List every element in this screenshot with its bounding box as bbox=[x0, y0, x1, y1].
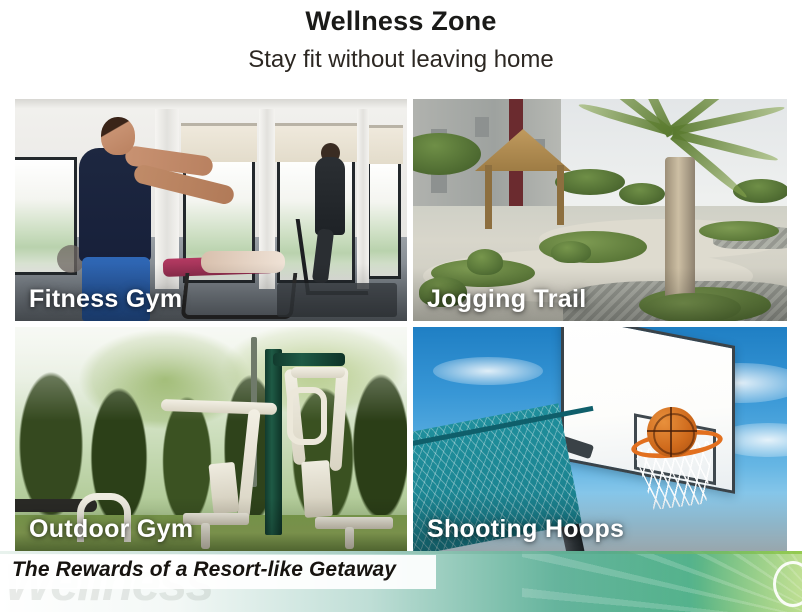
page-title: Wellness Zone bbox=[0, 5, 802, 37]
header: Wellness Zone Stay fit without leaving h… bbox=[0, 0, 802, 75]
caption-shooting-hoops: Shooting Hoops bbox=[427, 515, 624, 544]
photo-tile-fitness-gym[interactable]: Fitness Gym bbox=[15, 99, 407, 321]
photo-tile-jogging-trail[interactable]: Jogging Trail bbox=[413, 99, 787, 321]
footer-banner: Wellness The Rewards of a Resort-like Ge… bbox=[0, 551, 802, 612]
footer-tagline: The Rewards of a Resort-like Getaway bbox=[12, 558, 396, 582]
caption-outdoor-gym: Outdoor Gym bbox=[29, 515, 193, 544]
caption-jogging-trail: Jogging Trail bbox=[427, 285, 586, 314]
photo-tile-shooting-hoops[interactable]: Shooting Hoops bbox=[413, 327, 787, 551]
amenity-photo-grid: Fitness Gym bbox=[15, 99, 787, 551]
page-subtitle: Stay fit without leaving home bbox=[0, 45, 802, 75]
photo-tile-outdoor-gym[interactable]: Outdoor Gym bbox=[15, 327, 407, 551]
caption-fitness-gym: Fitness Gym bbox=[29, 285, 182, 314]
footer-light-rays bbox=[522, 551, 802, 612]
